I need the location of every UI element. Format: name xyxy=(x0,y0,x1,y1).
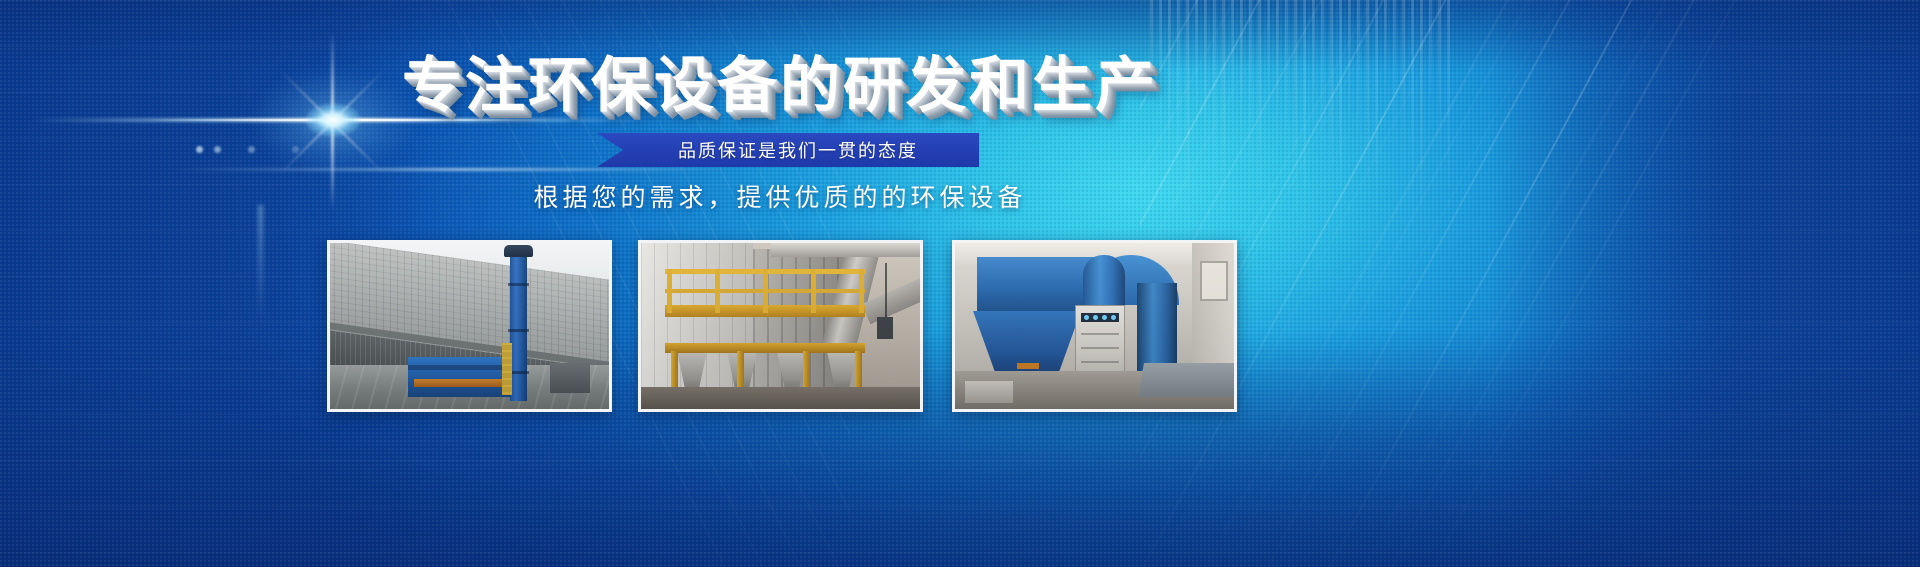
photo-gallery xyxy=(0,240,1560,412)
promo-banner: 专注环保设备的研发和生产 品质保证是我们一贯的态度 根据您的需求，提供优质的的环… xyxy=(0,0,1920,567)
gallery-photo-3[interactable] xyxy=(952,240,1237,412)
ribbon-label: 品质保证是我们一贯的态度 xyxy=(658,137,918,163)
gallery-photo-1[interactable] xyxy=(327,240,612,412)
banner-headline: 专注环保设备的研发和生产 xyxy=(0,56,1560,116)
ribbon-badge: 品质保证是我们一贯的态度 xyxy=(597,133,979,167)
banner-subline: 根据您的需求，提供优质的的环保设备 xyxy=(0,178,1560,214)
gallery-photo-2[interactable] xyxy=(638,240,923,412)
banner-content: 专注环保设备的研发和生产 品质保证是我们一贯的态度 根据您的需求，提供优质的的环… xyxy=(0,0,1920,567)
